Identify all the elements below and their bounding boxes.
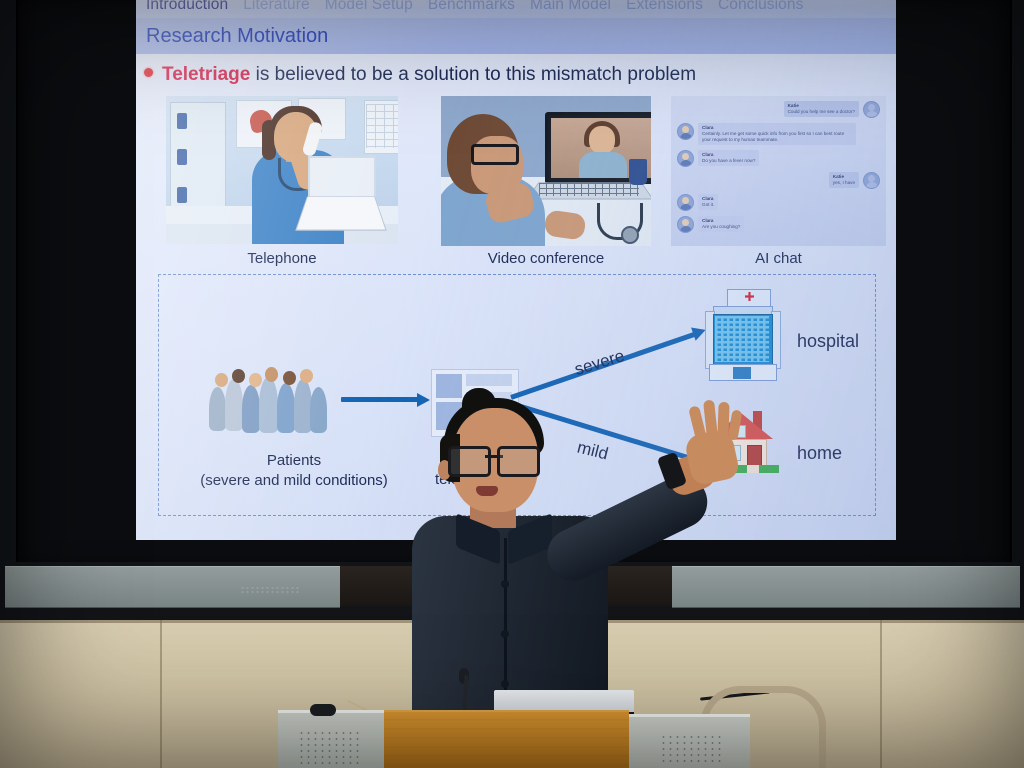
chat-text: yes, I have [833,180,855,186]
chat-text: Could you help me see a doctor? [788,109,855,115]
nav-item-introduction[interactable]: Introduction [146,0,228,14]
nav-item-benchmarks[interactable]: Benchmarks [428,0,515,14]
avatar-icon [677,150,694,167]
slide-title-band: Research Motivation [136,18,896,54]
lectern-knob [310,704,336,716]
lectern-speaker-grille-right [660,734,722,764]
slide-section-nav[interactable]: Introduction Literature Model Setup Benc… [136,0,896,18]
patients-crowd-image [205,371,333,437]
nav-item-model-setup[interactable]: Model Setup [325,0,413,14]
label-home: home [797,443,842,464]
chat-text: Certainly. Let me get some quick info fr… [702,131,852,143]
lectern-speaker-grille-left [298,730,360,764]
speaker-grille-dots [240,586,300,594]
chat-message-row: Clara Certainly. Let me get some quick i… [677,123,880,145]
chat-message-row: Katie yes, I have [677,172,880,189]
label-patients: Patients (severe and mild conditions) [179,451,409,492]
chat-text: Are you coughing? [702,224,740,230]
avatar-icon [677,194,694,211]
nav-item-main-model[interactable]: Main Model [530,0,611,14]
chat-text: Do you have a fever now? [702,158,755,164]
chat-message-row: Clara Got it. [677,194,880,211]
bullet-highlight-term: Teletriage [162,64,250,85]
caption-ai-chat: AI chat [671,250,886,267]
slide-bullet-row: Teletriage is believed to be a solution … [144,64,874,86]
nav-item-literature[interactable]: Literature [243,0,309,14]
photo-ai-chat: Katie Could you help me see a doctor? Cl… [671,96,886,246]
label-hospital: hospital [797,331,859,352]
slide-title: Research Motivation [146,25,328,48]
chat-message-row: Clara Are you coughing? [677,216,880,233]
caption-telephone: Telephone [166,250,398,267]
avatar-icon [863,172,880,189]
chat-transcript: Katie Could you help me see a doctor? Cl… [671,96,886,246]
caption-video-conference: Video conference [436,250,656,267]
eyeglasses-icon [448,446,540,472]
bullet-dot-icon [144,68,153,77]
lecture-room-scene: Introduction Literature Model Setup Benc… [0,0,1024,768]
wall-seam [160,620,162,768]
lectern [278,704,750,768]
label-severe: severe [572,346,627,380]
avatar-icon [677,123,694,140]
hospital-icon [705,289,781,381]
chat-message-row: Katie Could you help me see a doctor? [677,101,880,118]
slide-bullet-text: Teletriage is believed to be a solution … [162,64,696,86]
photo-telephone-nurse [166,96,398,244]
bullet-rest-text: is believed to be a solution to this mis… [250,64,696,85]
wall-seam [880,620,882,768]
chat-message-row: Clara Do you have a fever now? [677,150,880,167]
chat-sender: Clara [702,196,714,202]
label-patients-line1: Patients [179,451,409,471]
label-patients-line2: (severe and mild conditions) [179,471,409,491]
avatar-icon [677,216,694,233]
photo-video-conference [441,96,651,246]
avatar-icon [863,101,880,118]
nav-item-conclusions[interactable]: Conclusions [718,0,804,14]
nav-item-extensions[interactable]: Extensions [626,0,703,14]
photo-captions: Telephone Video conference AI chat [136,250,896,272]
slide-photo-row: Katie Could you help me see a doctor? Cl… [136,96,896,246]
chat-text: Got it. [702,202,714,208]
